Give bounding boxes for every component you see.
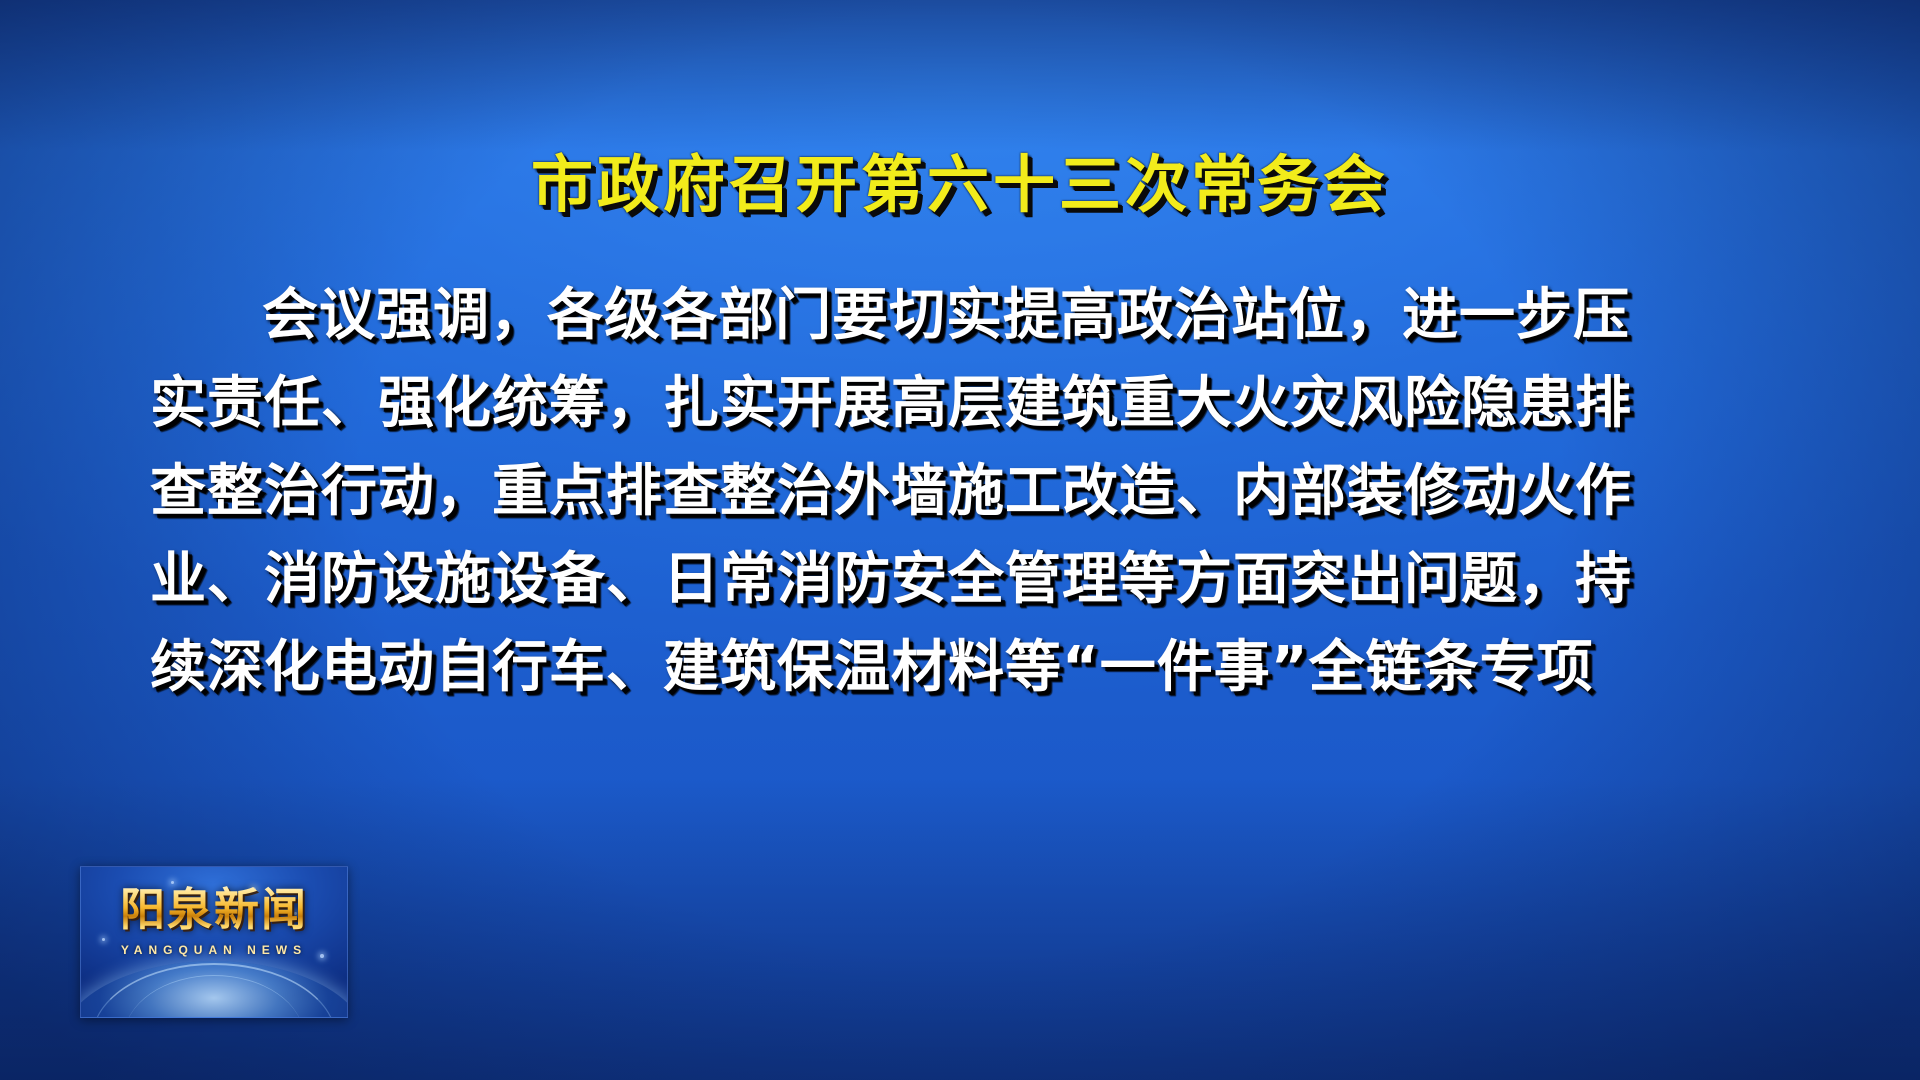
body-line-4: 业、消防设施设备、日常消防安全管理等方面突出问题，持 <box>150 536 1780 624</box>
body-line-2: 实责任、强化统筹，扎实开展高层建筑重大火灾风险隐患排 <box>150 360 1780 448</box>
news-body-text: 会议强调，各级各部门要切实提高政治站位，进一步压 实责任、强化统筹，扎实开展高层… <box>150 272 1780 712</box>
page-title: 市政府召开第六十三次常务会 <box>0 146 1920 224</box>
body-line-5: 续深化电动自行车、建筑保温材料等“一件事”全链条专项 <box>150 624 1780 712</box>
body-line-3: 查整治行动，重点排查整治外墙施工改造、内部装修动火作 <box>150 448 1780 536</box>
star-spark-icon <box>102 938 105 941</box>
body-line-1: 会议强调，各级各部门要切实提高政治站位，进一步压 <box>150 272 1780 360</box>
station-name-en: YANGQUAN NEWS <box>81 943 347 957</box>
station-name-cn: 阳泉新闻 <box>81 884 347 936</box>
station-logo-bug: 阳泉新闻 YANGQUAN NEWS <box>80 866 348 1018</box>
broadcast-frame: 市政府召开第六十三次常务会 会议强调，各级各部门要切实提高政治站位，进一步压 实… <box>0 0 1920 1080</box>
